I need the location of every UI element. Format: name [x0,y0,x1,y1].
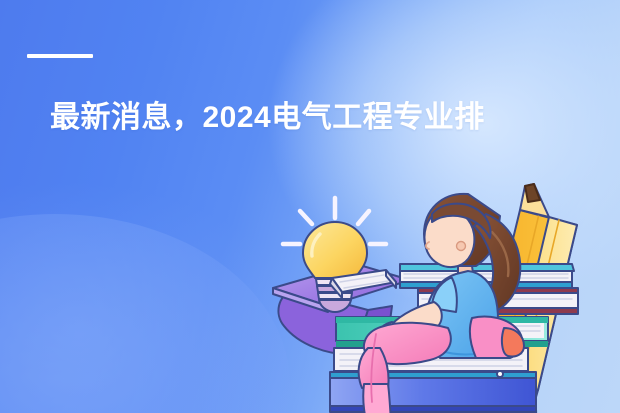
illustration-student-reading [272,178,620,413]
background-glow-blob [0,214,290,413]
page-title: 最新消息，2024电气工程专业排 [50,97,610,139]
accent-rule [27,54,93,58]
article-banner: 最新消息，2024电气工程专业排 [0,0,620,413]
